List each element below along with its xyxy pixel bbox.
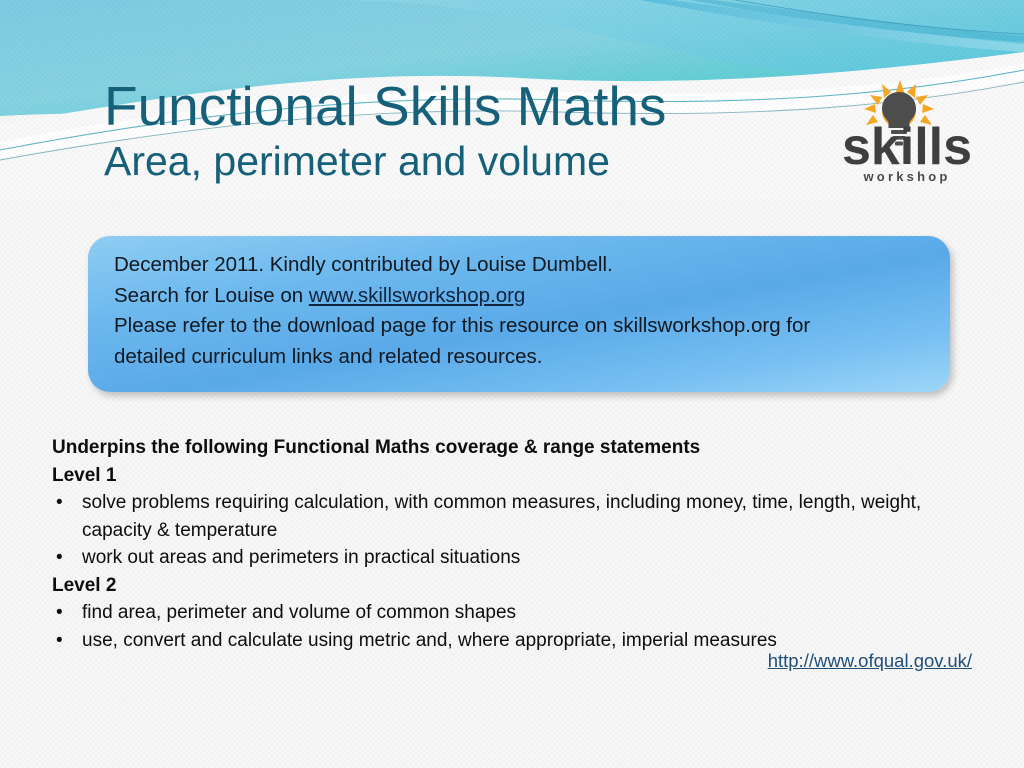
list-item-text: work out areas and perimeters in practic… [82,544,977,572]
body-heading: Underpins the following Functional Maths… [52,434,982,462]
list-item-text: find area, perimeter and volume of commo… [82,599,977,627]
callout-line: Search for Louise on www.skillsworkshop.… [114,281,924,312]
bullet-icon: • [52,544,82,572]
skillsworkshop-link[interactable]: www.skillsworkshop.org [309,284,525,307]
bullet-icon: • [52,489,82,544]
list-item: • solve problems requiring calculation, … [52,489,982,544]
level-label: Level 1 [52,462,982,490]
callout-line-text: Search for Louise on [114,284,309,307]
logo-wordmark: skills [842,118,972,176]
list-item-text: solve problems requiring calculation, wi… [82,489,977,544]
skills-workshop-logo: skills workshop [812,78,1002,188]
body-copy: Underpins the following Functional Maths… [52,434,982,654]
bullet-icon: • [52,599,82,627]
list-item: • work out areas and perimeters in pract… [52,544,982,572]
title-block: Functional Skills Maths Area, perimeter … [104,78,824,183]
presentation-slide: Functional Skills Maths Area, perimeter … [0,0,1024,768]
ofqual-link[interactable]: http://www.ofqual.gov.uk/ [768,650,972,671]
callout-line: Please refer to the download page for th… [114,311,924,342]
page-title: Functional Skills Maths [104,78,824,134]
callout-line-text: Please refer to the download page for th… [114,314,810,337]
page-subtitle: Area, perimeter and volume [104,140,824,183]
source-link-container: http://www.ofqual.gov.uk/ [52,650,972,672]
attribution-callout: December 2011. Kindly contributed by Lou… [88,236,950,392]
callout-line-text: December 2011. Kindly contributed by Lou… [114,253,613,276]
list-item: • find area, perimeter and volume of com… [52,599,982,627]
callout-line-text: detailed curriculum links and related re… [114,345,542,368]
callout-line: December 2011. Kindly contributed by Lou… [114,250,924,281]
callout-line: detailed curriculum links and related re… [114,342,924,373]
level-label: Level 2 [52,572,982,600]
logo-tagline: workshop [863,169,951,184]
